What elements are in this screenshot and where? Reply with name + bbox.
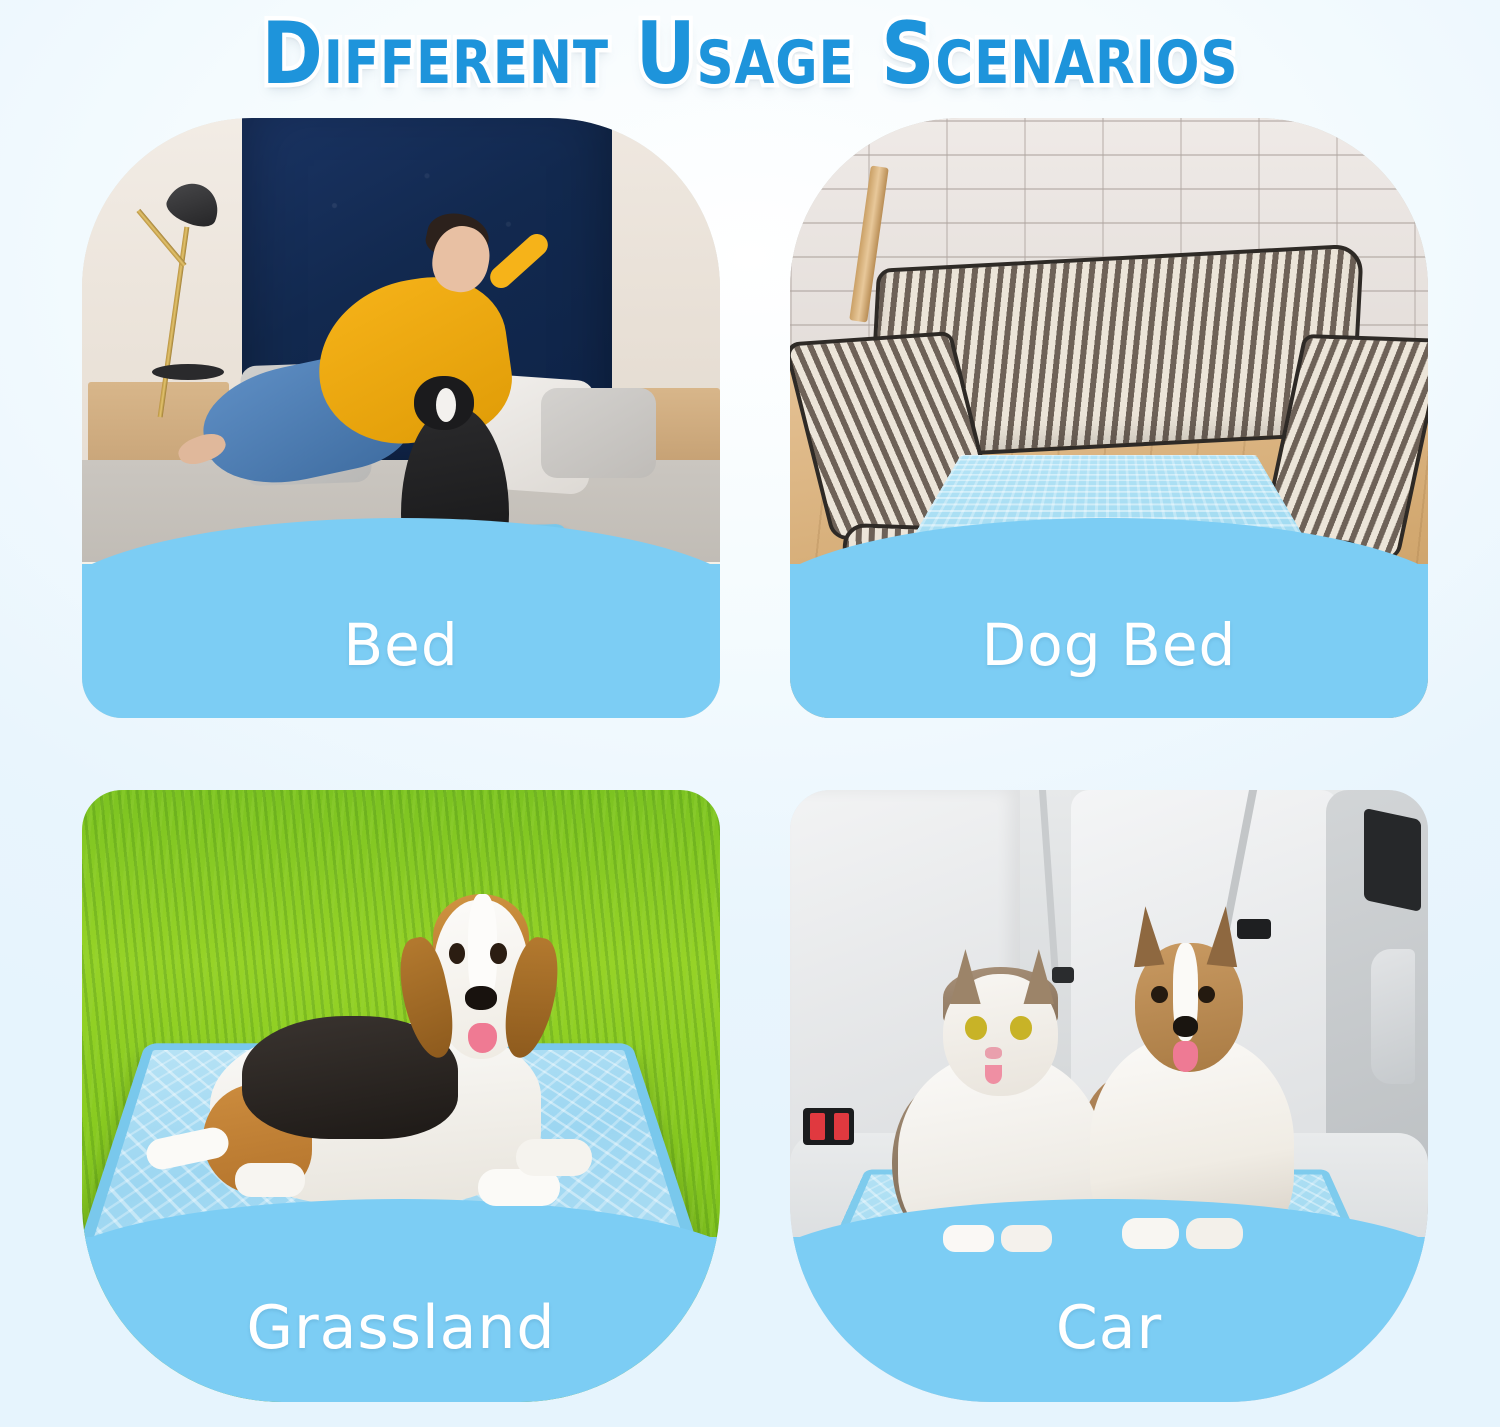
caption-label-bed: Bed bbox=[343, 611, 458, 679]
beagle-front-paw-right bbox=[516, 1139, 593, 1176]
scenario-grid: Bed Dog Bed bbox=[82, 118, 1428, 1402]
page-title-text: Different Usage Scenarios bbox=[262, 11, 1239, 97]
cat-eye-right bbox=[1010, 1016, 1032, 1039]
car-window-trim bbox=[1364, 808, 1421, 912]
page-title-stack: Different Usage Scenarios Different Usag… bbox=[182, 11, 1318, 97]
seatbelt-clip-left bbox=[1052, 967, 1074, 983]
sheltie-paw-left bbox=[1122, 1218, 1179, 1249]
caption-band-car: Car bbox=[790, 1237, 1428, 1402]
beagle-tongue bbox=[468, 1023, 497, 1054]
caption-band-grassland: Grassland bbox=[82, 1237, 720, 1402]
sheltie-tongue bbox=[1173, 1041, 1199, 1072]
caption-band-bed: Bed bbox=[82, 564, 720, 718]
dog-face-marking-bed bbox=[436, 388, 456, 422]
sheltie-eye-left bbox=[1151, 986, 1168, 1003]
scenario-card-bed[interactable]: Bed bbox=[82, 118, 720, 718]
caption-band-dog-bed: Dog Bed bbox=[790, 564, 1428, 718]
beagle-eye-left bbox=[449, 943, 466, 964]
scenario-card-grassland[interactable]: Grassland bbox=[82, 790, 720, 1402]
infographic-page: Different Usage Scenarios Different Usag… bbox=[0, 0, 1500, 1427]
page-title: Different Usage Scenarios Different Usag… bbox=[0, 2, 1500, 106]
scenario-card-car[interactable]: Car bbox=[790, 790, 1428, 1402]
sheltie-nose bbox=[1173, 1016, 1199, 1037]
caption-label-grassland: Grassland bbox=[247, 1293, 556, 1363]
seatbelt-latch-buttons bbox=[803, 1108, 854, 1145]
beagle-rear-paw bbox=[235, 1163, 305, 1197]
pillow-grey-right bbox=[541, 388, 656, 478]
caption-label-car: Car bbox=[1056, 1293, 1162, 1363]
seatbelt-clip-right bbox=[1237, 919, 1271, 939]
caption-label-dog-bed: Dog Bed bbox=[982, 611, 1237, 679]
sheltie-eye-right bbox=[1198, 986, 1215, 1003]
cat-tongue bbox=[985, 1065, 1002, 1083]
cat-nose bbox=[985, 1047, 1002, 1059]
scenario-card-dog-bed[interactable]: Dog Bed bbox=[790, 118, 1428, 718]
beagle-nose bbox=[465, 986, 497, 1010]
beagle-eye-right bbox=[490, 943, 507, 964]
sheltie-paw-right bbox=[1186, 1218, 1243, 1249]
cat-paw-left bbox=[943, 1225, 994, 1253]
car-door-armrest bbox=[1371, 949, 1416, 1084]
desk-lamp-base bbox=[152, 364, 224, 380]
cat-paw-right bbox=[1001, 1225, 1052, 1253]
cat-eye-left bbox=[965, 1016, 987, 1039]
